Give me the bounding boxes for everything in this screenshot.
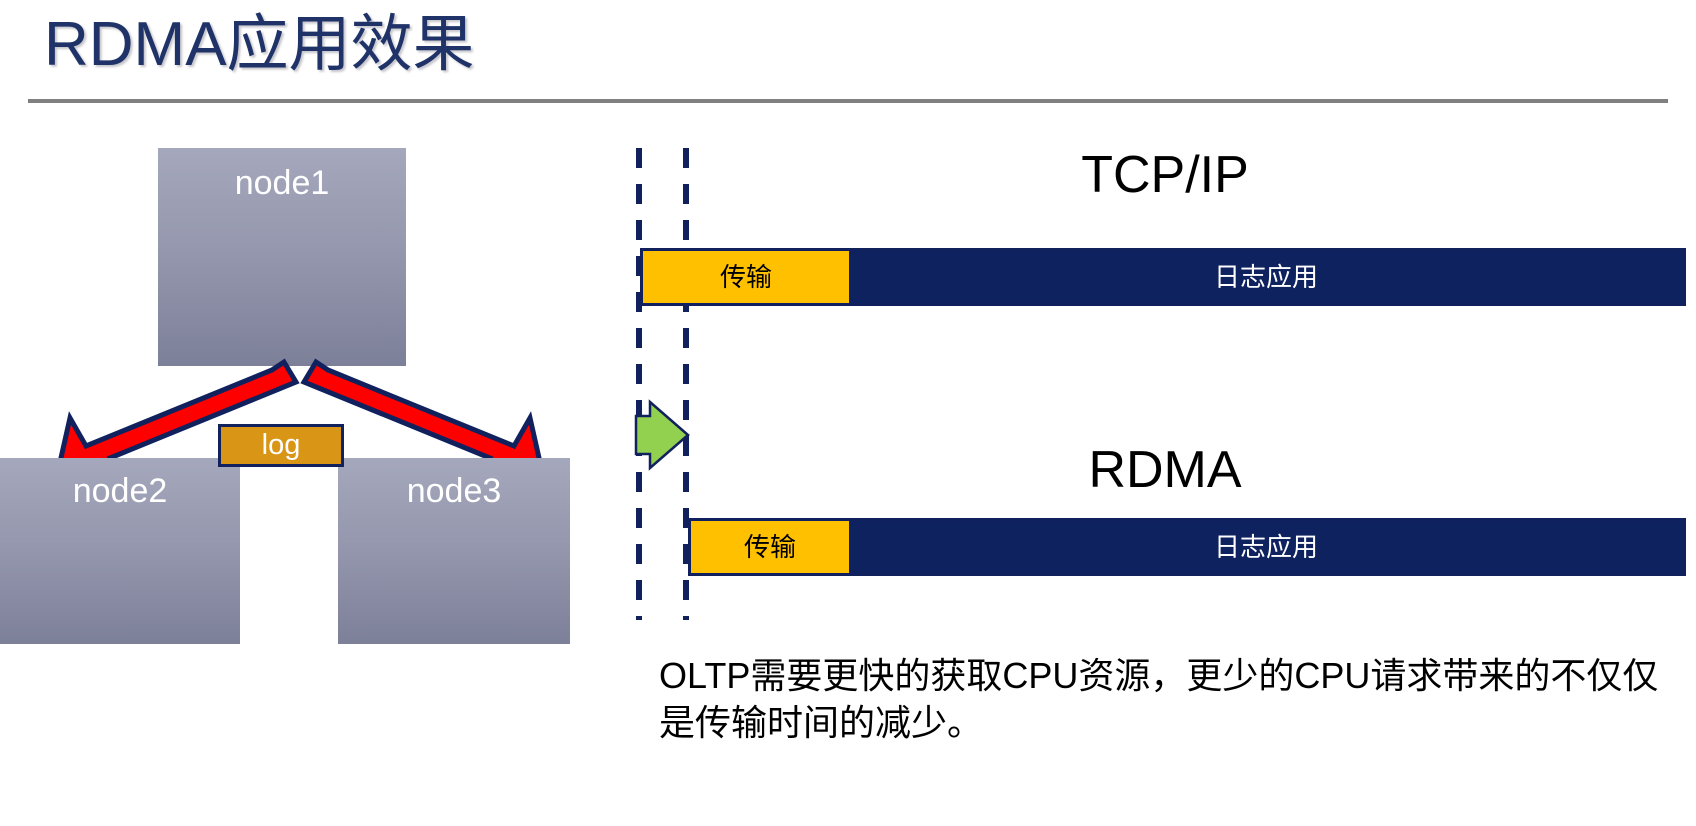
tcpip-application-segment: 日志应用 [849, 251, 1683, 303]
tcpip-timeline-bar: 传输 日志应用 [640, 248, 1686, 306]
node1-label: node1 [158, 166, 406, 200]
tcpip-heading: TCP/IP [660, 145, 1670, 205]
log-box: log [218, 424, 344, 467]
rdma-application-segment: 日志应用 [849, 521, 1683, 573]
node2-label: node2 [0, 474, 240, 508]
node3-box: node3 [338, 458, 570, 644]
rdma-timeline-bar: 传输 日志应用 [688, 518, 1686, 576]
guide-line-start [636, 148, 642, 620]
title-divider [28, 99, 1668, 103]
rdma-transport-segment: 传输 [691, 521, 849, 573]
node3-label: node3 [338, 474, 570, 508]
page-title: RDMA应用效果 [44, 6, 475, 84]
node1-box: node1 [158, 148, 406, 366]
log-label: log [262, 429, 301, 461]
node2-box: node2 [0, 458, 240, 644]
tcpip-transport-segment: 传输 [643, 251, 849, 303]
caption-text: OLTP需要更快的获取CPU资源，更少的CPU请求带来的不仅仅是传输时间的减少。 [659, 652, 1669, 746]
rdma-heading: RDMA [660, 440, 1670, 500]
